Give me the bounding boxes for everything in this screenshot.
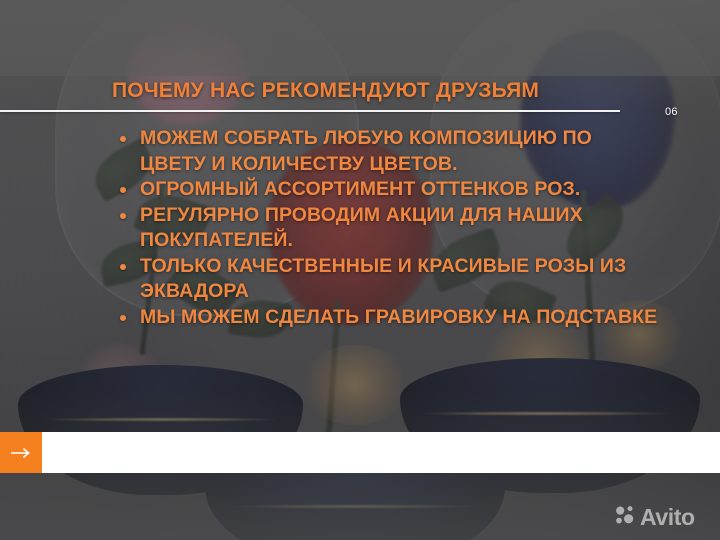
title-divider [0,110,620,112]
arrow-right-icon [10,447,32,459]
avito-watermark: Avito [614,504,695,531]
avito-dots-icon [614,504,636,531]
next-slide-button[interactable] [0,432,42,473]
dark-overlay-top [0,0,720,76]
list-item: ТОЛЬКО КАЧЕСТВЕННЫЕ И КРАСИВЫЕ РОЗЫ ИЗ Э… [113,254,658,305]
page-number: 06 [665,106,678,118]
presentation-slide: ПОЧЕМУ НАС РЕКОМЕНДУЮТ ДРУЗЬЯМ 06 МОЖЕМ … [0,0,720,540]
bullet-list: МОЖЕМ СОБРАТЬ ЛЮБУЮ КОМПОЗИЦИЮ ПО ЦВЕТУ … [113,126,658,330]
list-item: РЕГУЛЯРНО ПРОВОДИМ АКЦИИ ДЛЯ НАШИХ ПОКУП… [113,203,658,254]
page-title: ПОЧЕМУ НАС РЕКОМЕНДУЮТ ДРУЗЬЯМ [112,78,652,104]
list-item: МОЖЕМ СОБРАТЬ ЛЮБУЮ КОМПОЗИЦИЮ ПО ЦВЕТУ … [113,126,658,177]
list-item: МЫ МОЖЕМ СДЕЛАТЬ ГРАВИРОВКУ НА ПОДСТАВКЕ [113,305,658,331]
avito-wordmark: Avito [640,506,695,529]
list-item: ОГРОМНЫЙ АССОРТИМЕНТ ОТТЕНКОВ РОЗ. [113,177,658,203]
bottom-bar [0,432,720,473]
